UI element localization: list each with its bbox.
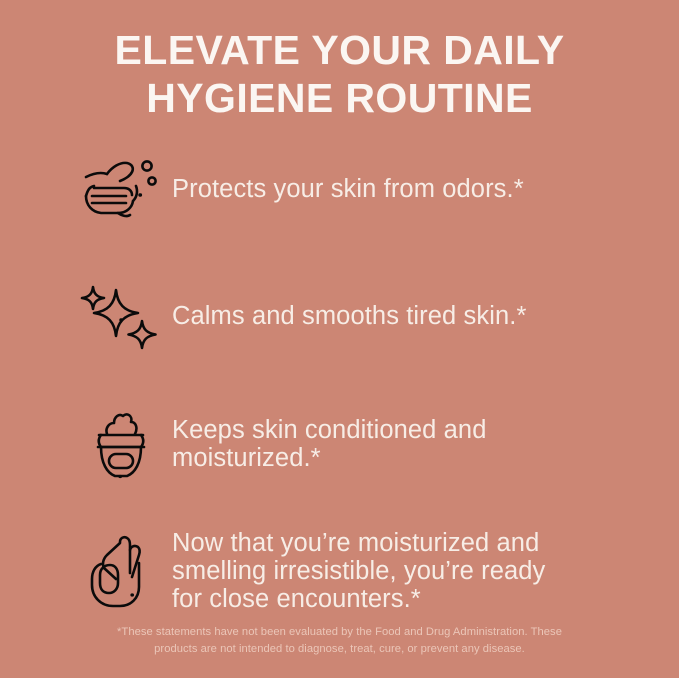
benefit-line: smelling irresistible, you’re ready xyxy=(172,557,545,585)
benefit-row: Calms and smooths tired skin.* xyxy=(0,253,679,380)
benefit-row: Keeps skin conditioned and moisturized.* xyxy=(0,380,679,507)
disclaimer-line-1: *These statements have not been evaluate… xyxy=(0,624,679,641)
benefit-text: Now that you’re moisturized and smelling… xyxy=(168,529,545,613)
benefit-line: moisturized.* xyxy=(172,444,321,472)
cream-jar-icon xyxy=(72,399,168,489)
infographic-page: ELEVATE YOUR DAILY HYGIENE ROUTINE xyxy=(0,0,679,678)
title-line-1: ELEVATE YOUR DAILY xyxy=(0,26,679,74)
benefit-line: for close encounters.* xyxy=(172,585,421,613)
benefit-text: Keeps skin conditioned and moisturized.* xyxy=(168,416,487,472)
title-line-2: HYGIENE ROUTINE xyxy=(0,74,679,122)
ok-hand-gesture-icon xyxy=(72,526,168,616)
benefit-line: Keeps skin conditioned and xyxy=(172,416,487,444)
disclaimer: *These statements have not been evaluate… xyxy=(0,624,679,658)
benefit-row: Now that you’re moisturized and smelling… xyxy=(0,507,679,634)
page-title: ELEVATE YOUR DAILY HYGIENE ROUTINE xyxy=(0,26,679,122)
benefit-line: Calms and smooths tired skin.* xyxy=(172,302,526,330)
benefit-line: Now that you’re moisturized and xyxy=(172,529,539,557)
benefit-text: Calms and smooths tired skin.* xyxy=(168,302,526,331)
washing-hands-icon xyxy=(72,145,168,235)
benefit-line: Protects your skin from odors.* xyxy=(172,175,524,203)
benefit-text: Protects your skin from odors.* xyxy=(168,175,524,204)
disclaimer-line-2: products are not intended to diagnose, t… xyxy=(0,641,679,658)
benefits-list: Protects your skin from odors.* Calms an… xyxy=(0,126,679,634)
benefit-row: Protects your skin from odors.* xyxy=(0,126,679,253)
sparkles-icon xyxy=(72,272,168,362)
